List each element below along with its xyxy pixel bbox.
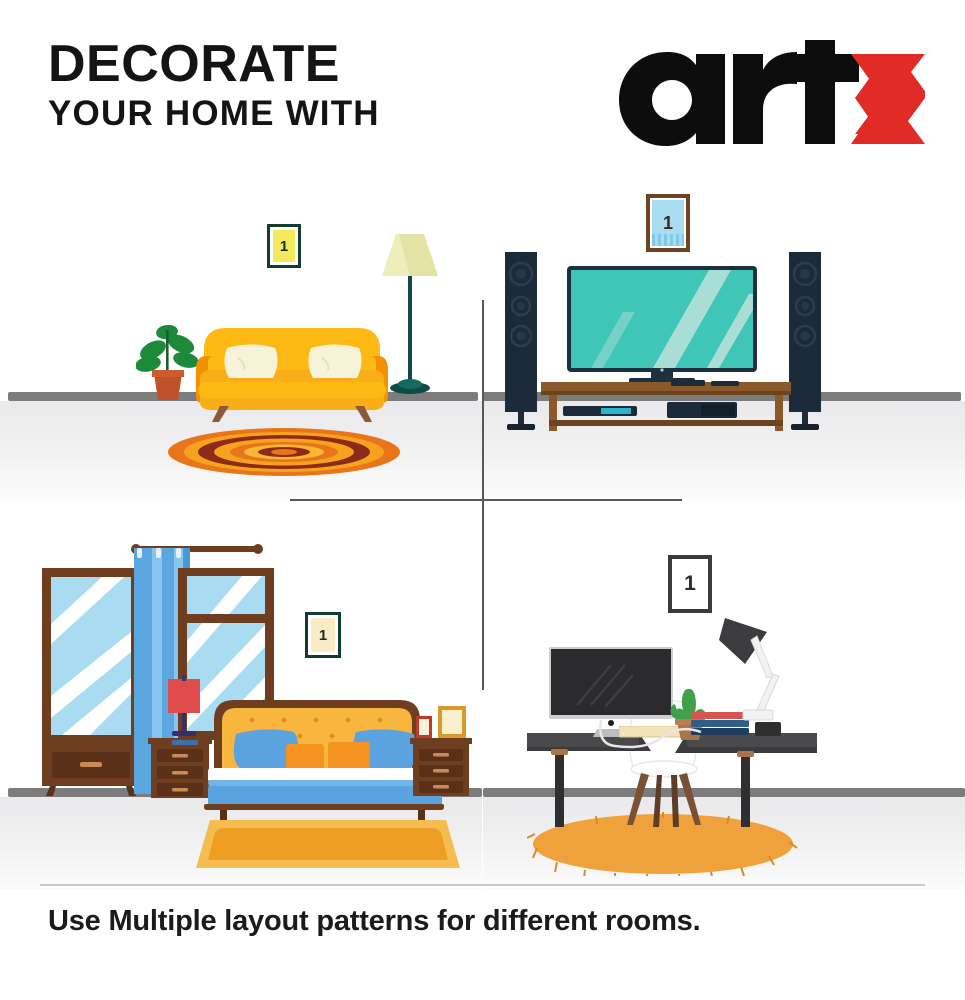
bed-sheet [208, 768, 424, 782]
wall-frame-bedroom[interactable]: 1 [305, 612, 341, 658]
orange-pillow-left [286, 744, 324, 770]
tv-svg [567, 266, 757, 384]
rug-svg [168, 428, 400, 476]
scene-office: 1 [483, 500, 965, 890]
bottom-separator-rule [40, 884, 925, 886]
table-lamp [162, 675, 206, 739]
orange-rug [196, 820, 460, 868]
flower-pot [154, 374, 182, 400]
standing-mirror [38, 568, 144, 796]
wall-frame-tv-room[interactable]: 1 [646, 194, 690, 252]
yellow-sofa [194, 322, 390, 422]
speaker-svg [503, 252, 539, 432]
scene-bedroom: 1 [0, 500, 482, 890]
nightstand-svg [148, 738, 212, 798]
frame-mat: 1 [311, 618, 335, 652]
orange-pillow-right [328, 742, 370, 770]
footer-caption: Use Multiple layout patterns for differe… [48, 905, 700, 938]
television[interactable] [567, 266, 757, 384]
divider-vertical-lower [482, 500, 484, 690]
divider-horizontal [290, 499, 682, 501]
desk-cable [599, 716, 739, 768]
speaker-svg [787, 252, 823, 432]
lamp-arm-upper [751, 636, 773, 678]
oval-rug [168, 428, 400, 476]
logo-letter-r [733, 52, 797, 144]
wall-frame-office[interactable]: 1 [668, 555, 712, 613]
frame-wave-decor [652, 234, 684, 246]
page-title: DECORATE YOUR HOME WITH [48, 38, 380, 131]
lamp-pole [408, 276, 412, 384]
divider-vertical [482, 300, 484, 500]
cream-pillow-left [224, 345, 277, 379]
mirror-svg [38, 568, 144, 796]
potted-plant [136, 318, 200, 404]
lamp-stem [182, 713, 186, 733]
window-mullion-h [178, 614, 274, 623]
lamp-shade [168, 679, 200, 713]
frame-mat: 1 [273, 230, 295, 262]
frame-artwork-number: 1 [311, 618, 335, 652]
frame-number-text: 1 [663, 213, 673, 234]
mirror-leg-left [46, 786, 56, 796]
logo-letter-a [619, 52, 725, 146]
floor-lamp [374, 228, 446, 404]
tower-speaker-left [503, 252, 539, 432]
plant-svg [136, 318, 200, 404]
tv-console [541, 382, 791, 434]
photo-frames-svg [416, 704, 470, 740]
tv-neck [651, 372, 673, 378]
console-items-svg [671, 377, 741, 387]
desk-leg-cap-left [551, 749, 568, 755]
headline-line-2: YOUR HOME WITH [48, 96, 380, 131]
logo-svg [615, 40, 925, 150]
lamp-svg [374, 228, 446, 404]
wall-frame-living-room[interactable]: 1 [267, 224, 301, 268]
desk-leg-left [555, 751, 564, 827]
poster-canvas: DECORATE YOUR HOME WITH [0, 0, 965, 1000]
table-lamp-svg [162, 675, 206, 739]
lamp-arm-lower [757, 674, 779, 713]
console-top-items [671, 374, 741, 384]
desk-leg-cap-right [737, 751, 754, 757]
photo-frames [416, 704, 470, 740]
frame-artwork-number: 1 [273, 230, 295, 262]
logo-letter-t [789, 40, 859, 144]
scene-living-room: 1 [0, 170, 482, 500]
rug-svg [196, 820, 460, 868]
scene-tv-room: 1 [483, 170, 965, 500]
frame-artwork-number: 1 [652, 200, 684, 246]
frame-artwork-number: 1 [674, 561, 706, 607]
desk-leg-right [741, 753, 750, 827]
plant-stem [166, 330, 169, 376]
cable-svg [599, 716, 739, 768]
nightstand-svg [410, 738, 472, 796]
lamp-base [743, 710, 773, 720]
headline-line-1: DECORATE [48, 38, 380, 90]
nightstand-left [148, 738, 212, 798]
drawer-handle[interactable] [80, 762, 102, 767]
logo-letter-x [851, 54, 925, 144]
sofa-seat-top [198, 382, 386, 398]
lamp-base-top [398, 379, 422, 389]
book-svg [172, 739, 198, 746]
tower-speaker-right [787, 252, 823, 432]
console-svg [541, 382, 791, 434]
frame-mat: 1 [674, 561, 706, 607]
sofa-svg [194, 322, 390, 422]
nightstand-right [410, 738, 472, 796]
nightstand-book [172, 733, 198, 740]
pot-rim [152, 370, 184, 377]
cream-pillow-right [308, 345, 361, 379]
artx-logo [615, 40, 925, 150]
frame-mat: 1 [652, 200, 684, 246]
